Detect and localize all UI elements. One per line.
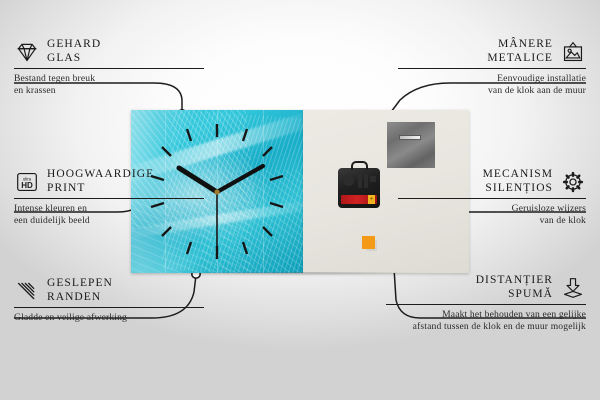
- feature-desc-line2: een duidelijk beeld: [14, 215, 204, 227]
- feature-hoogwaardige-print: ultra HD HOOGWAARDIGE PRINT Intense kleu…: [14, 168, 204, 226]
- feature-mecanism-silentios: MECANISM SILENȚIOS Geruisloze wijzers va…: [398, 168, 586, 226]
- feature-title-line1: MÂNERE: [487, 38, 553, 52]
- battery: +: [341, 195, 377, 204]
- diamond-icon: [14, 41, 40, 63]
- infographic-stage: + GEHARD GLAS Bes: [0, 0, 600, 400]
- quartz-mechanism-box: +: [338, 168, 380, 208]
- svg-text:HD: HD: [21, 180, 33, 189]
- foam-spacer-icon: [560, 277, 586, 299]
- mechanism-dial: [343, 175, 354, 186]
- feature-manere-metalice: MÂNERE METALICE Eenvoudige installatie v…: [398, 38, 586, 96]
- clock-hub: [214, 189, 219, 194]
- picture-hanger-icon: [560, 41, 586, 63]
- feature-divider: [14, 198, 204, 199]
- feature-desc-line1: Geruisloze wijzers: [398, 203, 586, 215]
- ultra-hd-icon: ultra HD: [14, 171, 40, 193]
- feature-desc-line1: Maakt het behouden van een gelijke: [386, 309, 586, 321]
- feature-desc-line1: Eenvoudige installatie: [398, 73, 586, 85]
- feature-title-line1: GEHARD: [47, 38, 101, 52]
- feature-gehard-glas: GEHARD GLAS Bestand tegen breuk en krass…: [14, 38, 204, 96]
- feature-title-line1: HOOGWAARDIGE: [47, 168, 154, 182]
- gear-icon: [560, 171, 586, 193]
- feature-title-line2: PRINT: [47, 182, 154, 196]
- mechanism-ridge: [358, 174, 362, 188]
- feature-desc-line1: Gladde en veilige afwerking: [14, 312, 204, 324]
- feature-title-line1: GESLEPEN: [47, 277, 113, 291]
- feature-desc-line2: van de klok: [398, 215, 586, 227]
- feature-divider: [398, 198, 586, 199]
- feature-title-line2: METALICE: [487, 52, 553, 66]
- feature-title-line2: RANDEN: [47, 291, 113, 305]
- feature-distantier-spuma: DISTANȚIER SPUMĂ Maakt het behouden van …: [386, 274, 586, 332]
- feature-title-line1: MECANISM: [483, 168, 553, 182]
- feature-divider: [386, 304, 586, 305]
- mechanism-ridge: [370, 176, 376, 182]
- hanger-slot: [399, 135, 421, 140]
- feature-geslepen-randen: GESLEPEN RANDEN Gladde en veilige afwerk…: [14, 277, 204, 324]
- beveled-edge-icon: [14, 280, 40, 302]
- feature-title-line2: GLAS: [47, 52, 101, 66]
- metal-hanger-plate: [387, 122, 435, 168]
- foam-spacer: [362, 236, 375, 249]
- feature-desc-line2: afstand tussen de klok en de muur mogeli…: [386, 321, 586, 333]
- feature-desc-line1: Intense kleuren en: [14, 203, 204, 215]
- feature-title-line2: SILENȚIOS: [483, 182, 553, 196]
- minute-hand: [217, 166, 263, 192]
- feature-divider: [14, 68, 204, 69]
- feature-desc-line2: van de klok aan de muur: [398, 85, 586, 97]
- feature-desc-line2: en krassen: [14, 85, 204, 97]
- feature-divider: [398, 68, 586, 69]
- battery-plus-terminal: +: [368, 195, 375, 204]
- feature-divider: [14, 307, 204, 308]
- feature-title-line1: DISTANȚIER: [476, 274, 553, 288]
- feature-title-line2: SPUMĂ: [476, 288, 553, 302]
- mechanism-ridge: [364, 174, 368, 188]
- feature-desc-line1: Bestand tegen breuk: [14, 73, 204, 85]
- hanger-loop: [351, 161, 368, 170]
